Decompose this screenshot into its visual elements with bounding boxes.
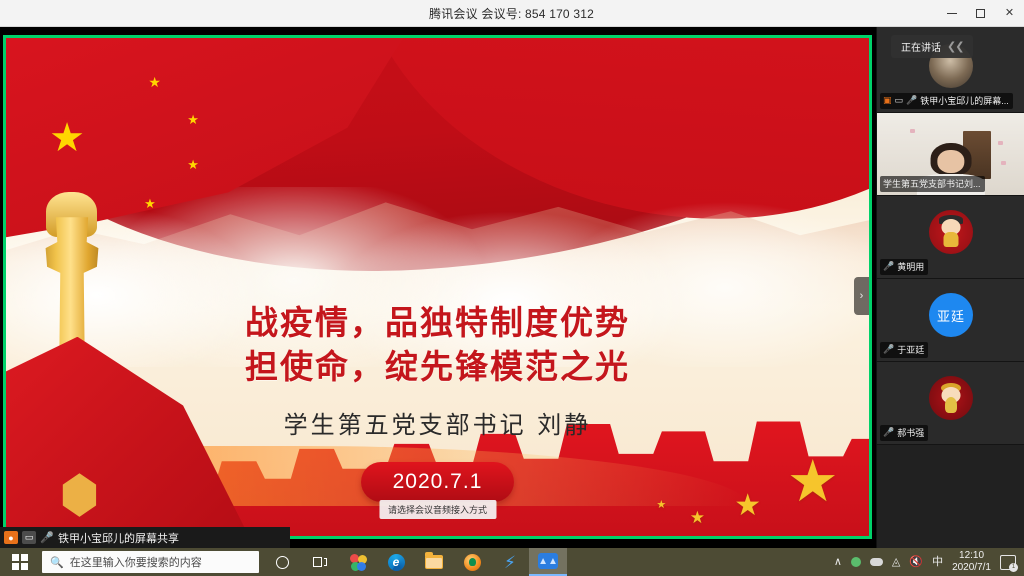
microphone-muted-icon: 🎤: [883, 427, 894, 438]
window-controls: ✕: [937, 0, 1024, 27]
participant-tile[interactable]: 正在讲话 ❮❮ ▣ ▭ 🎤 铁甲小宝邱儿的屏幕...: [877, 27, 1024, 113]
flower-app-icon: [350, 554, 367, 571]
slide-title-line-1: 战疫情，品独特制度优势: [245, 301, 630, 345]
cloud-icon[interactable]: [870, 558, 883, 566]
maximize-button[interactable]: [966, 0, 995, 27]
host-icon: ▣: [883, 95, 892, 106]
participant-name-badge: ▣ ▭ 🎤 铁甲小宝邱儿的屏幕...: [880, 93, 1013, 109]
user-icon: ●: [4, 531, 18, 544]
participant-avatar: [929, 210, 973, 254]
participant-tile[interactable]: 🎤 黄明用: [877, 196, 1024, 279]
slide-text-block: 战疫情，品独特制度优势 担使命，绽先锋模范之光 学生第五党支部书记 刘静 202…: [6, 38, 869, 536]
slide-title-line-2: 担使命，绽先锋模范之光: [245, 345, 630, 389]
clock-date: 2020/7/1: [952, 562, 991, 573]
video-wall-dot: [998, 141, 1003, 145]
participant-avatar: [929, 376, 973, 420]
browser-shield-icon: [464, 554, 481, 571]
microphone-icon[interactable]: 🎤: [40, 531, 54, 544]
close-icon: ✕: [1005, 8, 1014, 19]
cartoon-body: [944, 232, 959, 247]
microphone-muted-icon: 🎤: [883, 344, 894, 355]
participant-name: 郝书强: [897, 426, 924, 439]
window-title: 腾讯会议 会议号: 854 170 312: [0, 5, 937, 22]
task-view-icon: [313, 557, 327, 567]
shared-screen-stage[interactable]: ★ ★ ★ ★ ★ ★ ★ ★ ★: [0, 27, 876, 548]
slide-subtitle: 学生第五党支部书记 刘静: [284, 405, 592, 440]
participant-name-badge: 学生第五党支部书记刘...: [880, 176, 985, 192]
presentation-slide: ★ ★ ★ ★ ★ ★ ★ ★ ★: [6, 38, 869, 536]
cartoon-avatar-icon: [938, 383, 964, 413]
participant-name: 黄明用: [897, 260, 924, 273]
edge-button[interactable]: e: [377, 548, 415, 576]
thunder-icon: ⚡: [504, 554, 516, 571]
minimize-icon: [947, 13, 957, 14]
window-title-bar: 腾讯会议 会议号: 854 170 312 ✕: [0, 0, 1024, 27]
slide-title: 战疫情，品独特制度优势 担使命，绽先锋模范之光: [245, 301, 630, 388]
close-button[interactable]: ✕: [995, 0, 1024, 27]
video-person-face: [937, 150, 964, 173]
notification-count: 1: [1009, 563, 1018, 572]
flower-app-button[interactable]: [339, 548, 377, 576]
avatar-initials: 亚廷: [937, 306, 965, 325]
speaking-tooltip-label: 正在讲话: [901, 39, 941, 54]
video-wall-dot: [1001, 161, 1006, 165]
edge-icon: e: [388, 554, 405, 571]
file-explorer-button[interactable]: [415, 548, 453, 576]
taskbar-items: e ⚡ ▲▲: [263, 548, 567, 576]
clock-time: 12:10: [959, 550, 984, 561]
tencent-meeting-button[interactable]: ▲▲: [529, 548, 567, 576]
chevron-right-icon: ›: [860, 290, 864, 302]
cartoon-body: [945, 397, 957, 413]
volume-muted-icon[interactable]: 🔇: [909, 557, 923, 568]
clock[interactable]: 12:10 2020/7/1: [952, 550, 991, 575]
meeting-body: ★ ★ ★ ★ ★ ★ ★ ★ ★: [0, 27, 1024, 548]
audio-connect-hint[interactable]: 请选择会议音频接入方式: [379, 500, 496, 519]
thunder-button[interactable]: ⚡: [491, 548, 529, 576]
cartoon-avatar-icon: [938, 217, 964, 247]
tencent-meeting-icon: ▲▲: [538, 553, 558, 569]
cortana-icon: [276, 556, 289, 569]
screen-icon: ▭: [22, 531, 36, 544]
participant-tile[interactable]: 亚廷 🎤 于亚廷: [877, 279, 1024, 362]
shared-screen-frame: ★ ★ ★ ★ ★ ★ ★ ★ ★: [3, 35, 872, 539]
participant-name: 学生第五党支部书记刘...: [883, 177, 981, 190]
screen-share-icon: ▭: [895, 95, 904, 106]
search-icon: 🔍: [50, 556, 64, 569]
windows-taskbar: 🔍 在这里输入你要搜索的内容 e ⚡ ▲▲ ∧ ◬ 🔇 中 12:1: [0, 548, 1024, 576]
app-root: 腾讯会议 会议号: 854 170 312 ✕ ★ ★ ★ ★: [0, 0, 1024, 576]
panel-collapse-button[interactable]: ›: [854, 277, 869, 315]
participant-tile[interactable]: 学生第五党支部书记刘...: [877, 113, 1024, 196]
video-wall-dot: [910, 129, 915, 133]
ime-indicator[interactable]: 中: [932, 557, 943, 568]
maximize-icon: [976, 9, 985, 18]
slide-date-badge: 2020.7.1: [361, 462, 515, 502]
microphone-icon: 🎤: [906, 95, 917, 106]
participant-name-badge: 🎤 黄明用: [880, 259, 928, 275]
participant-name-badge: 🎤 于亚廷: [880, 342, 928, 358]
microphone-muted-icon: 🎤: [883, 261, 894, 272]
search-input[interactable]: 🔍 在这里输入你要搜索的内容: [42, 551, 259, 573]
task-view-button[interactable]: [301, 548, 339, 576]
search-placeholder: 在这里输入你要搜索的内容: [70, 554, 202, 570]
windows-logo-icon: [12, 554, 28, 570]
notification-center-button[interactable]: 1: [1000, 555, 1016, 570]
wifi-icon[interactable]: ◬: [892, 557, 900, 568]
system-tray: ∧ ◬ 🔇 中 12:10 2020/7/1 1: [834, 548, 1024, 576]
participant-name: 于亚廷: [897, 343, 924, 356]
screen-share-label: 铁甲小宝邱儿的屏幕共享: [58, 530, 179, 546]
minimize-button[interactable]: [937, 0, 966, 27]
participant-name: 铁甲小宝邱儿的屏幕...: [920, 94, 1009, 107]
participant-tile[interactable]: 🎤 郝书强: [877, 362, 1024, 445]
tray-expand-icon[interactable]: ∧: [834, 557, 842, 568]
speaking-tooltip: 正在讲话 ❮❮: [891, 35, 973, 58]
file-explorer-icon: [425, 555, 443, 569]
participant-avatar: 亚廷: [929, 293, 973, 337]
browser-shield-button[interactable]: [453, 548, 491, 576]
participant-name-badge: 🎤 郝书强: [880, 425, 928, 441]
sound-wave-icon: ❮❮: [947, 40, 963, 53]
participant-panel: 正在讲话 ❮❮ ▣ ▭ 🎤 铁甲小宝邱儿的屏幕...: [876, 27, 1024, 548]
chat-icon[interactable]: [851, 557, 861, 567]
start-button[interactable]: [0, 548, 40, 576]
cortana-button[interactable]: [263, 548, 301, 576]
screen-share-status-bar[interactable]: ● ▭ 🎤 铁甲小宝邱儿的屏幕共享: [0, 527, 290, 548]
